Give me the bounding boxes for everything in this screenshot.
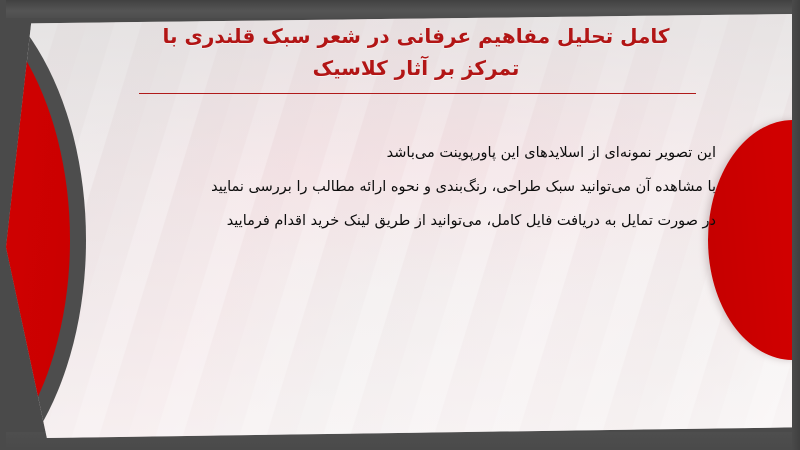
slide-canvas: کامل تحلیل مفاهیم عرفانی در شعر سبک قلند… — [6, 14, 792, 438]
slide-body-line-1: این تصویر نمونه‌ای از اسلایدهای این پاور… — [96, 136, 716, 170]
slide-frame-top-border — [0, 0, 800, 18]
slide-body-line-3: در صورت تمایل به دریافت فایل کامل، می‌تو… — [96, 204, 716, 238]
slide-body-line-2: با مشاهده آن می‌توانید سبک طراحی، رنگ‌بن… — [96, 170, 716, 204]
slide-frame-left-border — [0, 0, 6, 450]
slide-frame-right-border — [792, 0, 800, 450]
slide-title-line-1: کامل تحلیل مفاهیم عرفانی در شعر سبک قلند… — [126, 20, 706, 52]
slide-body-text: این تصویر نمونه‌ای از اسلایدهای این پاور… — [96, 136, 716, 238]
presentation-slide: کامل تحلیل مفاهیم عرفانی در شعر سبک قلند… — [0, 0, 800, 450]
title-underline-rule — [139, 93, 696, 94]
slide-title: کامل تحلیل مفاهیم عرفانی در شعر سبک قلند… — [126, 20, 706, 84]
slide-title-line-2: تمرکز بر آثار کلاسیک — [126, 52, 706, 84]
